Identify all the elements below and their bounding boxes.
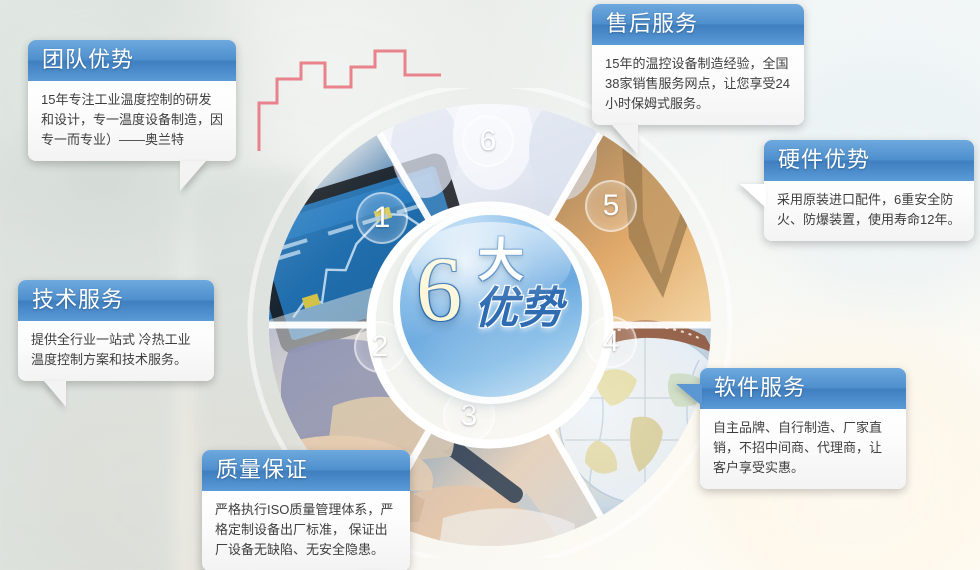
ring-badge-6[interactable]: 6 [462, 115, 514, 167]
callout-team-body: 15年专注工业温度控制的研发和设计，专一温度设备制造，因专一而专业）——奥兰特 [28, 81, 236, 161]
callout-after-sales-tail [612, 125, 638, 155]
callout-team-tail [180, 161, 206, 191]
callout-hardware-body: 采用原装进口配件，6重安全防火、防爆装置，使用寿命12年。 [764, 181, 974, 241]
callout-after-sales-title: 售后服务 [592, 4, 804, 45]
callout-technical-title: 技术服务 [18, 280, 214, 321]
callout-quality-body: 严格执行ISO质量管理体系，严格定制设备出厂标准， 保证出厂设备无缺陷、无安全隐… [202, 491, 410, 570]
ring-badge-1[interactable]: 1 [356, 192, 408, 244]
callout-technical-tail [44, 381, 66, 407]
ring-badge-2[interactable]: 2 [354, 321, 406, 373]
callout-hardware-tail [740, 184, 766, 208]
callout-quality-title: 质量保证 [202, 450, 410, 491]
callout-team-advantage[interactable]: 团队优势 15年专注工业温度控制的研发和设计，专一温度设备制造，因专一而专业）—… [28, 40, 236, 161]
center-emblem: 6 大 优势 [400, 215, 582, 397]
callout-software-title: 软件服务 [700, 368, 906, 409]
center-word: 优势 [474, 287, 564, 331]
callout-after-sales-body: 15年的温控设备制造经验，全国38家销售服务网点，让您享受24小时保姆式服务。 [592, 45, 804, 125]
ring-badge-5[interactable]: 5 [585, 180, 637, 232]
center-number: 6 [416, 243, 462, 335]
callout-hardware-title: 硬件优势 [764, 140, 974, 181]
callout-quality-assurance[interactable]: 质量保证 严格执行ISO质量管理体系，严格定制设备出厂标准， 保证出厂设备无缺陷… [202, 450, 410, 570]
callout-technical-service[interactable]: 技术服务 提供全行业一站式 冷热工业温度控制方案和技术服务。 [18, 280, 214, 381]
callout-software-body: 自主品牌、自行制造、厂家直销，不招中间商、代理商，让客户享受实惠。 [700, 409, 906, 489]
callout-software-tail [676, 384, 702, 406]
callout-after-sales[interactable]: 售后服务 15年的温控设备制造经验，全国38家销售服务网点，让您享受24小时保姆… [592, 4, 804, 125]
ring-badge-3[interactable]: 3 [443, 390, 495, 442]
infographic-canvas: 1 2 3 4 5 6 6 大 优势 团队优势 15年专注工业温度控制的研发和设… [0, 0, 980, 570]
callout-software-service[interactable]: 软件服务 自主品牌、自行制造、厂家直销，不招中间商、代理商，让客户享受实惠。 [700, 368, 906, 489]
callout-hardware-advantage[interactable]: 硬件优势 采用原装进口配件，6重安全防火、防爆装置，使用寿命12年。 [764, 140, 974, 241]
ring-badge-4[interactable]: 4 [585, 316, 637, 368]
callout-technical-body: 提供全行业一站式 冷热工业温度控制方案和技术服务。 [18, 321, 214, 381]
center-big-char: 大 [478, 237, 524, 283]
callout-team-title: 团队优势 [28, 40, 236, 81]
